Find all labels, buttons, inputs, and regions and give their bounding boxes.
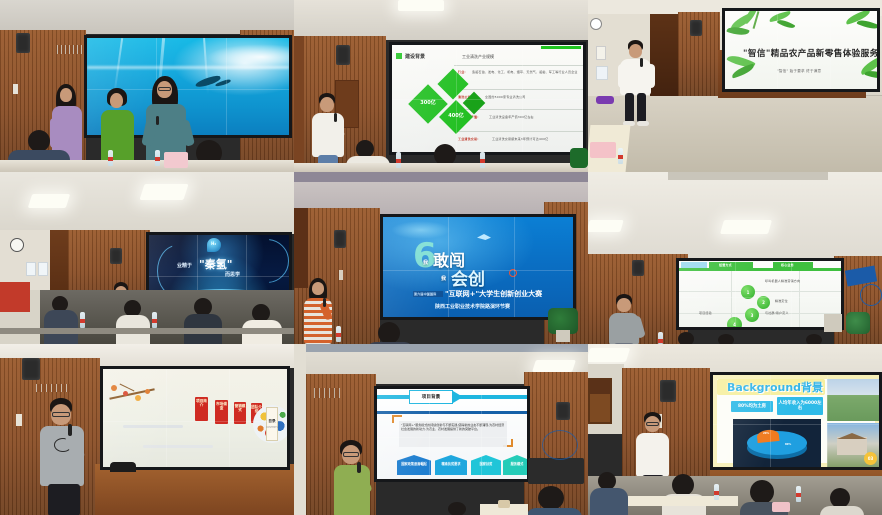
label-earth-houses: 80%均为土房 bbox=[731, 401, 773, 412]
ceiling-speaker bbox=[556, 402, 570, 420]
slogan-wo-2: 我 bbox=[441, 275, 446, 282]
slide-title: "智信"精品农产品新零售体验服务 bbox=[743, 47, 879, 59]
market-size-slide: 建设背景 工业清洗产业规模 行业: 造船石油、发电、化工、机电、烟草、天然气、船… bbox=[392, 45, 583, 152]
box-3: 国家扶贫 bbox=[471, 455, 501, 475]
toc-banner-label-1: 项目简介 bbox=[195, 399, 208, 408]
ceiling-light bbox=[532, 360, 576, 372]
contest-title-slide: 6 我 敢闯 我 会创 第六届中国国际 "互联网+"大学生创新创业大赛 陕西工业… bbox=[383, 217, 573, 317]
diamond-label-400: 400亿 bbox=[448, 114, 463, 120]
slide-title: 建设背景 bbox=[405, 53, 425, 60]
bubble-2: 2 bbox=[757, 296, 770, 309]
water-bottle bbox=[108, 150, 113, 166]
bubble-4: 4 bbox=[727, 317, 742, 330]
row-value-4: 工业清洗交易额未来3年预计可达400亿 bbox=[492, 137, 548, 141]
photo-grid: 建设背景 工业清洗产业规模 行业: 造船石油、发电、化工、机电、烟草、天然气、船… bbox=[0, 0, 882, 515]
note-3: 与社群/用户定义 bbox=[765, 311, 789, 315]
pie-label-blue: 80% bbox=[785, 443, 791, 446]
photo-cell-1[interactable] bbox=[0, 0, 294, 172]
slide-paragraph: "互联网+"服务模式的持续创新与不断实践,使得新的业态不断涌现,为农村经济社会发… bbox=[399, 421, 507, 447]
wall-clock bbox=[590, 18, 602, 30]
ceiling-light bbox=[720, 220, 772, 234]
video-wall-screen: 建设背景 工业清洗产业规模 行业: 造船石油、发电、化工、机电、烟草、天然气、船… bbox=[389, 42, 586, 155]
photo-cell-9[interactable]: Background背景 80%均为土房 人均年收入为6000左右 20% 80… bbox=[588, 344, 882, 515]
row-value-2: 全国约5000家专业清洗公司 bbox=[485, 95, 525, 99]
video-wall-screen: 经营方式 核心业务 1 2 3 4 呼叫机器人精准营销方向 精准定位 与社群/用… bbox=[676, 258, 844, 330]
slogan-huichuang: 会创 bbox=[451, 265, 485, 290]
video-wall-screen: 项目简介 市场调查 营销模式 团队介绍 目录 CONTENTS bbox=[100, 366, 290, 470]
slide-part-2: "秦氢" bbox=[199, 256, 232, 272]
business-model-slide: 经营方式 核心业务 1 2 3 4 呼叫机器人精准营销方向 精准定位 与社群/用… bbox=[679, 261, 841, 327]
rural-background-slide: Background背景 80%均为土房 人均年收入为6000左右 20% 80… bbox=[713, 375, 879, 467]
toc-emblem-sub: CONTENTS bbox=[266, 426, 278, 429]
slide-part-1: 业精于 bbox=[177, 262, 192, 269]
ceiling-speaker bbox=[632, 260, 644, 276]
video-wall-screen: "智信"精品农产品新零售体验服务 "智信" 始于要求 终于满意 bbox=[722, 8, 880, 92]
ceiling-light bbox=[588, 348, 630, 362]
toc-banner-2: 市场调查 bbox=[215, 400, 228, 424]
slide-badge: 第六届中国国际 bbox=[414, 292, 436, 296]
photo-cell-7[interactable]: 项目简介 市场调查 营销模式 团队介绍 目录 CONTENTS bbox=[0, 344, 294, 515]
toc-banner-3: 营销模式 bbox=[234, 402, 246, 424]
bubble-1: 1 bbox=[741, 285, 755, 299]
photo-cell-3[interactable]: "智信"精品农产品新零售体验服务 "智信" 始于要求 终于满意 bbox=[588, 0, 882, 172]
toc-banner-label-2: 市场调查 bbox=[215, 402, 228, 411]
ceiling-light bbox=[139, 184, 188, 200]
slide-title: Background背景 bbox=[727, 379, 823, 395]
nav-left-label: 经营方式 bbox=[719, 263, 732, 267]
note-2: 精准定位 bbox=[775, 299, 788, 303]
slide-sub-title: 陕西工业职业技术学院路演环节赛 bbox=[435, 303, 510, 310]
video-wall-screen: Background背景 80%均为土房 人均年收入为6000左右 20% 80… bbox=[710, 372, 882, 470]
bamboo-title-slide: "智信"精品农产品新零售体验服务 "智信" 始于要求 终于满意 bbox=[725, 11, 877, 89]
ceiling-light bbox=[28, 194, 71, 208]
toc-banner-label-3: 营销模式 bbox=[234, 404, 246, 413]
wall-clock bbox=[10, 238, 24, 252]
pie-chart-panel: 20% 80% bbox=[733, 419, 821, 467]
potted-plant bbox=[846, 312, 870, 334]
video-wall-screen: 6 我 敢闯 我 会创 第六届中国国际 "互联网+"大学生创新创业大赛 陕西工业… bbox=[380, 214, 576, 320]
slide-part-3: 而思学 bbox=[225, 271, 240, 278]
toc-plaque: 目录 CONTENTS bbox=[266, 407, 278, 441]
diamond-label-300: 300亿 bbox=[420, 101, 435, 107]
toc-banner-1: 项目简介 bbox=[195, 397, 208, 421]
box-2: 精准扶贫要求 bbox=[435, 455, 467, 475]
conference-table bbox=[0, 160, 294, 172]
ceiling-speaker bbox=[22, 358, 40, 380]
bubble-3: 3 bbox=[745, 308, 759, 322]
note-4: 项目经验 bbox=[699, 311, 712, 315]
photo-cell-8[interactable]: 项目背景 "互联网+"服务模式的持续创新与不断实践,使得新的业态不断涌现,为农村… bbox=[294, 344, 588, 515]
photo-cell-5[interactable]: 6 我 敢闯 我 会创 第六届中国国际 "互联网+"大学生创新创业大赛 陕西工业… bbox=[294, 172, 588, 344]
slogan-wo-1: 我 bbox=[423, 259, 428, 266]
photo-cell-2[interactable]: 建设背景 工业清洗产业规模 行业: 造船石油、发电、化工、机电、烟草、天然气、船… bbox=[294, 0, 588, 172]
nav-right-label: 核心业务 bbox=[781, 263, 794, 267]
photo-cell-4[interactable]: H₂ 业精于 "秦氢" 而思学 致力于逐步构建制氢、储氢、加氢一体化的氢能商业运… bbox=[0, 172, 294, 344]
box-4: 服务模式 bbox=[503, 455, 530, 475]
row-label-4: 工业清洗交易: bbox=[458, 137, 479, 141]
ceiling-speaker bbox=[334, 230, 346, 248]
ceiling-speaker bbox=[690, 20, 702, 36]
ceiling-light bbox=[398, 0, 444, 11]
slide-title-tag: 项目背景 bbox=[409, 390, 453, 404]
ceiling-speaker bbox=[336, 45, 350, 65]
toc-emblem-title: 目录 bbox=[268, 419, 275, 424]
ceiling-speaker bbox=[110, 248, 122, 264]
ceiling-speaker bbox=[16, 33, 30, 53]
label-income: 人均年收入为6000左右 bbox=[777, 397, 823, 415]
contents-slide: 项目简介 市场调查 营销模式 团队介绍 目录 CONTENTS bbox=[103, 369, 287, 467]
row-value-1: 造船石油、发电、化工、机电、烟草、天然气、船舶、军工等行业人员企业 bbox=[472, 70, 582, 74]
note-1: 呼叫机器人精准营销方向 bbox=[765, 279, 800, 283]
video-wall-screen: 项目背景 "互联网+"服务模式的持续创新与不断实践,使得新的业态不断涌现,为农村… bbox=[374, 386, 530, 482]
ceiling-speaker bbox=[660, 380, 676, 402]
project-background-slide: 项目背景 "互联网+"服务模式的持续创新与不断实践,使得新的业态不断涌现,为农村… bbox=[377, 389, 527, 479]
computer-monitor bbox=[528, 458, 584, 484]
box-1: 国家政策逐渐崛起 bbox=[397, 455, 431, 475]
slide-badge: 03 bbox=[864, 452, 877, 465]
row-label-1: 行业: bbox=[458, 70, 466, 74]
slide-heading: 工业清洗产业规模 bbox=[462, 54, 494, 60]
slide-main-title: "互联网+"大学生创新创业大赛 bbox=[445, 289, 542, 299]
row-value-3: 工业清洗设备年产值300亿左右 bbox=[489, 115, 534, 119]
pie-label-orange: 20% bbox=[763, 432, 769, 435]
photo-cell-6[interactable]: 经营方式 核心业务 1 2 3 4 呼叫机器人精准营销方向 精准定位 与社群/用… bbox=[588, 172, 882, 344]
slide-subtitle: "智信" 始于要求 终于满意 bbox=[777, 69, 821, 74]
ceiling-light bbox=[588, 220, 624, 232]
